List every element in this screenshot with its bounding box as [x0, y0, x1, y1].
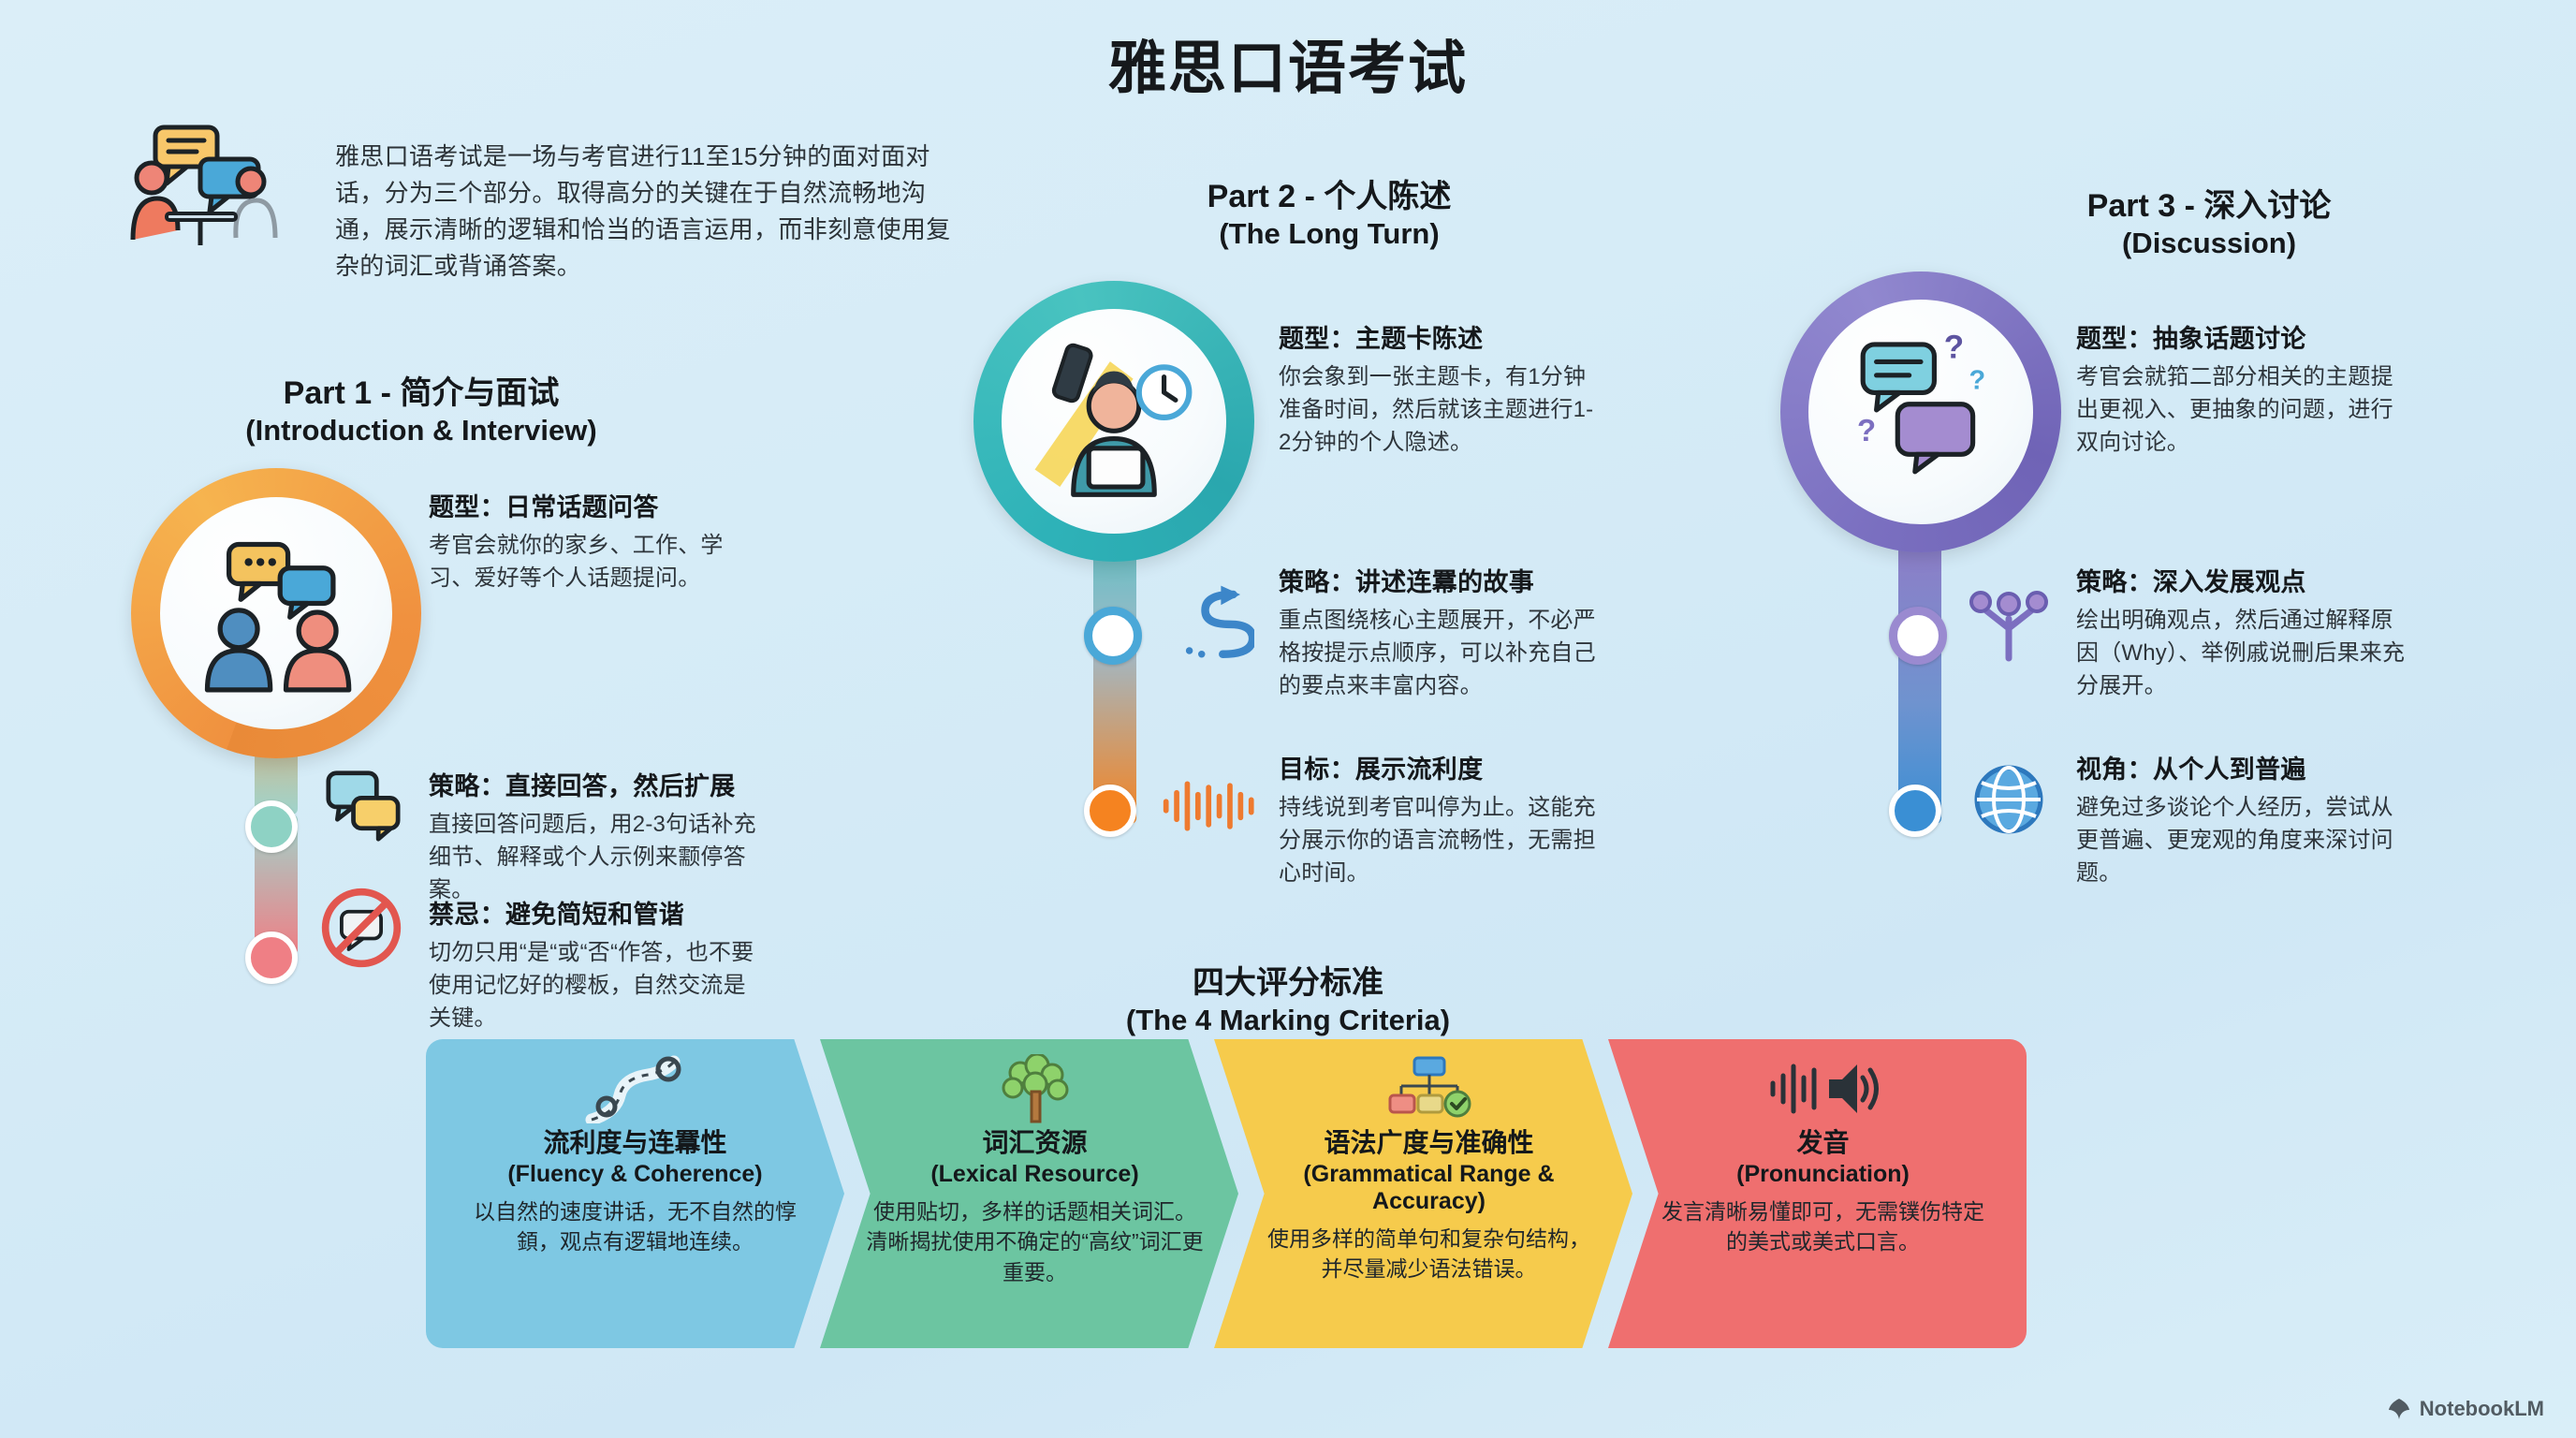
- criteria-body: 使用多样的简单句和复杂句结构，并尽量减少语法错误。: [1257, 1224, 1601, 1284]
- winding-road-gears-icon: [584, 1052, 687, 1125]
- criteria-title-cn: 发音: [1796, 1127, 1849, 1159]
- question-thought-bubbles-icon: ? ? ?: [1808, 300, 2033, 524]
- criteria-body: 发言清晰易懂即可，无需镤伤特定的美式或美式口言。: [1651, 1196, 1995, 1257]
- block-body: 避免过多谈论个人经历，尝试从更普遍、更宠观的角度来深讨问题。: [2076, 792, 2413, 889]
- block-body: 重点图绕核心主题展开，不必严格按提示点顺序，可以补充自己的要点来丰富内容。: [1279, 605, 1606, 702]
- part-3-heading-en: (Discussion): [1975, 226, 2443, 261]
- block-title: 策略：深入发展观点: [2076, 562, 2408, 598]
- intro-paragraph: 雅思口语考试是一场与考官进行11至15分钟的面对面对话，分为三个部分。取得高分的…: [335, 139, 953, 285]
- criteria-title-en: (Lexical Resource): [930, 1161, 1138, 1188]
- block-body: 绘出明确观点，然后通过解释原因（Why）、举例戚说刪后果来充分展开。: [2076, 605, 2408, 702]
- block-title: 题型：抽象话题讨论: [2076, 318, 2394, 355]
- criteria-card-fluency[interactable]: 流利度与连羃性 (Fluency & Coherence) 以自然的速度讲话，无…: [426, 1039, 844, 1348]
- watermark-label: NotebookLM: [2420, 1397, 2544, 1421]
- flowchart-check-icon: [1384, 1052, 1474, 1125]
- part-1-heading-cn: Part 1 - 简介与面试: [187, 374, 655, 413]
- svg-text:?: ?: [1857, 413, 1876, 448]
- interview-illustration-icon: [110, 120, 279, 251]
- person-with-card-clock-icon: [1002, 309, 1226, 534]
- part-3-heading-cn: Part 3 - 深入讨论: [1975, 187, 2443, 226]
- criteria-card-lexical[interactable]: 词汇资源 (Lexical Resource) 使用贴切，多样的话题相关词汇。清…: [820, 1039, 1238, 1348]
- block-title: 策略：直接回答，然后扩展: [429, 766, 756, 802]
- winding-arrow-icon: [1170, 580, 1254, 665]
- block-title: 目标：展示流利度: [1279, 749, 1597, 785]
- criteria-banner: 流利度与连羃性 (Fluency & Coherence) 以自然的速度讲话，无…: [426, 1039, 2027, 1348]
- block-body: 持线说到考官叫停为止。这能充分展示你的语言流畅性，无需担心时间。: [1279, 792, 1597, 889]
- block-title: 题型：日常话题问答: [429, 487, 738, 523]
- criteria-heading-en: (The 4 Marking Criteria): [1054, 1003, 1522, 1038]
- criteria-title-en: (Pronunciation): [1736, 1161, 1910, 1188]
- two-people-conversation-icon: [160, 497, 392, 729]
- block-title: 策略：讲述连羃的故事: [1279, 562, 1606, 598]
- tree-icon: [996, 1052, 1075, 1125]
- block-title: 禁忌：避免简短和管谐: [429, 894, 766, 931]
- block-body: 考官会就你的家乡、工作、学习、爱好等个人话题提问。: [429, 530, 738, 595]
- speech-bubbles-icon: [323, 768, 403, 843]
- part-3-circle: ? ? ?: [1780, 271, 2061, 552]
- part-3-block-2: 视角：从个人到普遍 避免过多谈论个人经历，尝试从更普遍、更宠观的角度来深讨问题。: [2076, 749, 2413, 889]
- block-body: 考官会就筘二部分相关的主题提出更视入、更抽象的问题，进行双向讨论。: [2076, 361, 2394, 459]
- notebooklm-logo-icon: [2387, 1397, 2411, 1421]
- criteria-title-cn: 流利度与连羃性: [543, 1127, 726, 1159]
- part-2-node-strategy: [1084, 607, 1142, 665]
- criteria-body: 使用贴切，多样的话题相关词汇。清晰揭扰使用不确定的“高纹”词汇更重要。: [863, 1196, 1207, 1288]
- criteria-heading: 四大评分标准 (The 4 Marking Criteria): [1054, 964, 1522, 1038]
- part-1-node-taboo: [245, 932, 298, 984]
- idea-branches-icon: [1964, 576, 2054, 666]
- block-body: 直接回答问题后，用2-3句话补充细节、解释或个人示例来颥停答案。: [429, 809, 756, 906]
- speaker-sound-icon: [1767, 1052, 1880, 1125]
- part-1-circle: [131, 468, 421, 758]
- part-1-heading: Part 1 - 简介与面试 (Introduction & Interview…: [187, 374, 655, 448]
- page-title: 雅思口语考试: [0, 21, 2576, 105]
- part-1-block-1: 策略：直接回答，然后扩展 直接回答问题后，用2-3句话补充细节、解释或个人示例来…: [429, 766, 756, 906]
- notebooklm-watermark: NotebookLM: [2387, 1397, 2544, 1421]
- block-body: 你会象到一张主题卡，有1分钟准备时间，然后就该主题进行1-2分钟的个人隐述。: [1279, 361, 1597, 459]
- part-1-heading-en: (Introduction & Interview): [187, 413, 655, 448]
- criteria-card-pronunciation[interactable]: 发音 (Pronunciation) 发言清晰易懂即可，无需镤伤特定的美式或美式…: [1608, 1039, 2027, 1348]
- svg-text:?: ?: [1944, 329, 1964, 365]
- part-3-heading: Part 3 - 深入讨论 (Discussion): [1975, 187, 2443, 261]
- part-2-block-1: 策略：讲述连羃的故事 重点图绕核心主题展开，不必严格按提示点顺序，可以补充自己的…: [1279, 562, 1606, 702]
- part-1-block-0: 题型：日常话题问答 考官会就你的家乡、工作、学习、爱好等个人话题提问。: [429, 487, 738, 595]
- criteria-title-en: (Fluency & Coherence): [507, 1161, 762, 1188]
- criteria-title-cn: 语法广度与准确性: [1324, 1127, 1533, 1159]
- part-2-heading: Part 2 - 个人陈述 (The Long Turn): [1095, 178, 1563, 252]
- part-2-node-goal: [1084, 785, 1136, 837]
- part-1-node-strategy: [245, 800, 298, 853]
- svg-text:?: ?: [1969, 365, 1986, 395]
- globe-icon: [1966, 756, 2052, 843]
- part-2-heading-en: (The Long Turn): [1095, 216, 1563, 252]
- criteria-title-cn: 词汇资源: [982, 1127, 1087, 1159]
- no-speech-icon: [318, 885, 404, 971]
- part-2-heading-cn: Part 2 - 个人陈述: [1095, 178, 1563, 216]
- block-title: 视角：从个人到普遍: [2076, 749, 2413, 785]
- part-3-node-perspective: [1889, 785, 1941, 837]
- criteria-title-en: (Grammatical Range & Accuracy): [1257, 1161, 1601, 1215]
- waveform-icon: [1161, 777, 1264, 835]
- block-title: 题型：主题卡陈述: [1279, 318, 1597, 355]
- infographic-canvas: 雅思口语考试 雅思口语考试是一场与考官进行11至15分钟的面对面对话，分为三个部…: [0, 0, 2576, 1438]
- part-3-block-1: 策略：深入发展观点 绘出明确观点，然后通过解释原因（Why）、举例戚说刪后果来充…: [2076, 562, 2408, 702]
- part-2-block-0: 题型：主题卡陈述 你会象到一张主题卡，有1分钟准备时间，然后就该主题进行1-2分…: [1279, 318, 1597, 459]
- criteria-card-grammar[interactable]: 语法广度与准确性 (Grammatical Range & Accuracy) …: [1214, 1039, 1632, 1348]
- criteria-body: 以自然的速度讲话，无不自然的惇顉，观点有逻辑地连续。: [458, 1196, 812, 1257]
- criteria-heading-cn: 四大评分标准: [1054, 964, 1522, 1003]
- part-2-circle: [973, 281, 1254, 562]
- block-body: 切勿只用“是“或“否“作答，也不要使用记忆好的樱板，自然交流是关键。: [429, 937, 766, 1034]
- part-2-block-2: 目标：展示流利度 持线说到考官叫停为止。这能充分展示你的语言流畅性，无需担心时间…: [1279, 749, 1597, 889]
- part-1-block-2: 禁忌：避免简短和管谐 切勿只用“是“或“否“作答，也不要使用记忆好的樱板，自然交…: [429, 894, 766, 1034]
- part-3-block-0: 题型：抽象话题讨论 考官会就筘二部分相关的主题提出更视入、更抽象的问题，进行双向…: [2076, 318, 2394, 459]
- part-3-node-strategy: [1889, 607, 1947, 665]
